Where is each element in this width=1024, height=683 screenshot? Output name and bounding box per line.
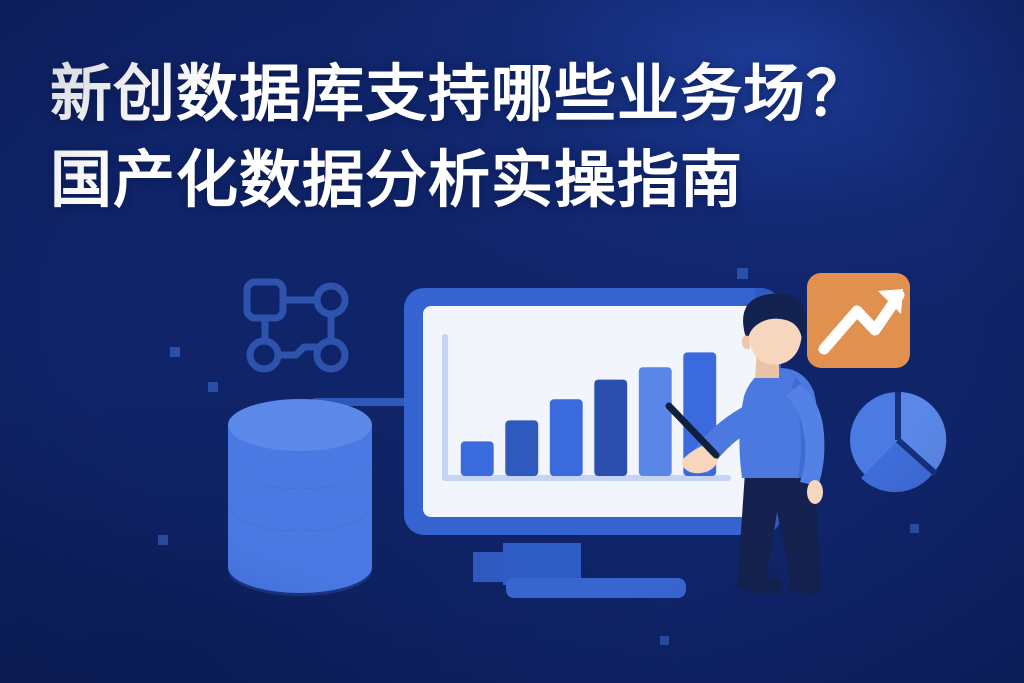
cover-canvas: 新创数据库支持哪些业务场？ 国产化数据分析实操指南 <box>0 0 1024 683</box>
background-vignette <box>0 0 1024 683</box>
